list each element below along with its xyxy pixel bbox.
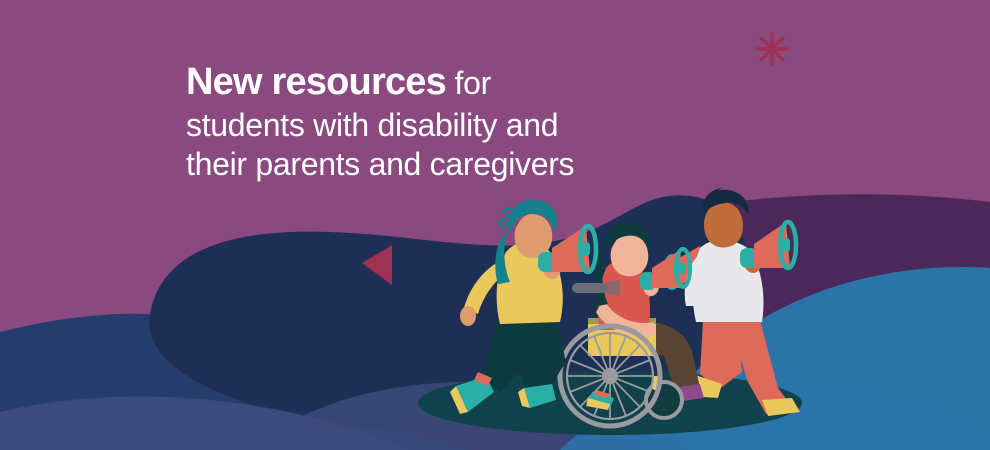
wheelchair-wheel bbox=[560, 326, 660, 426]
head-right bbox=[704, 202, 743, 248]
head-centre bbox=[611, 234, 649, 276]
banner-illustration bbox=[0, 0, 990, 450]
head-left bbox=[515, 214, 553, 258]
asterisk-icon bbox=[757, 34, 787, 64]
hand-back-left bbox=[460, 306, 476, 326]
promo-banner: New resources for students with disabili… bbox=[0, 0, 990, 450]
